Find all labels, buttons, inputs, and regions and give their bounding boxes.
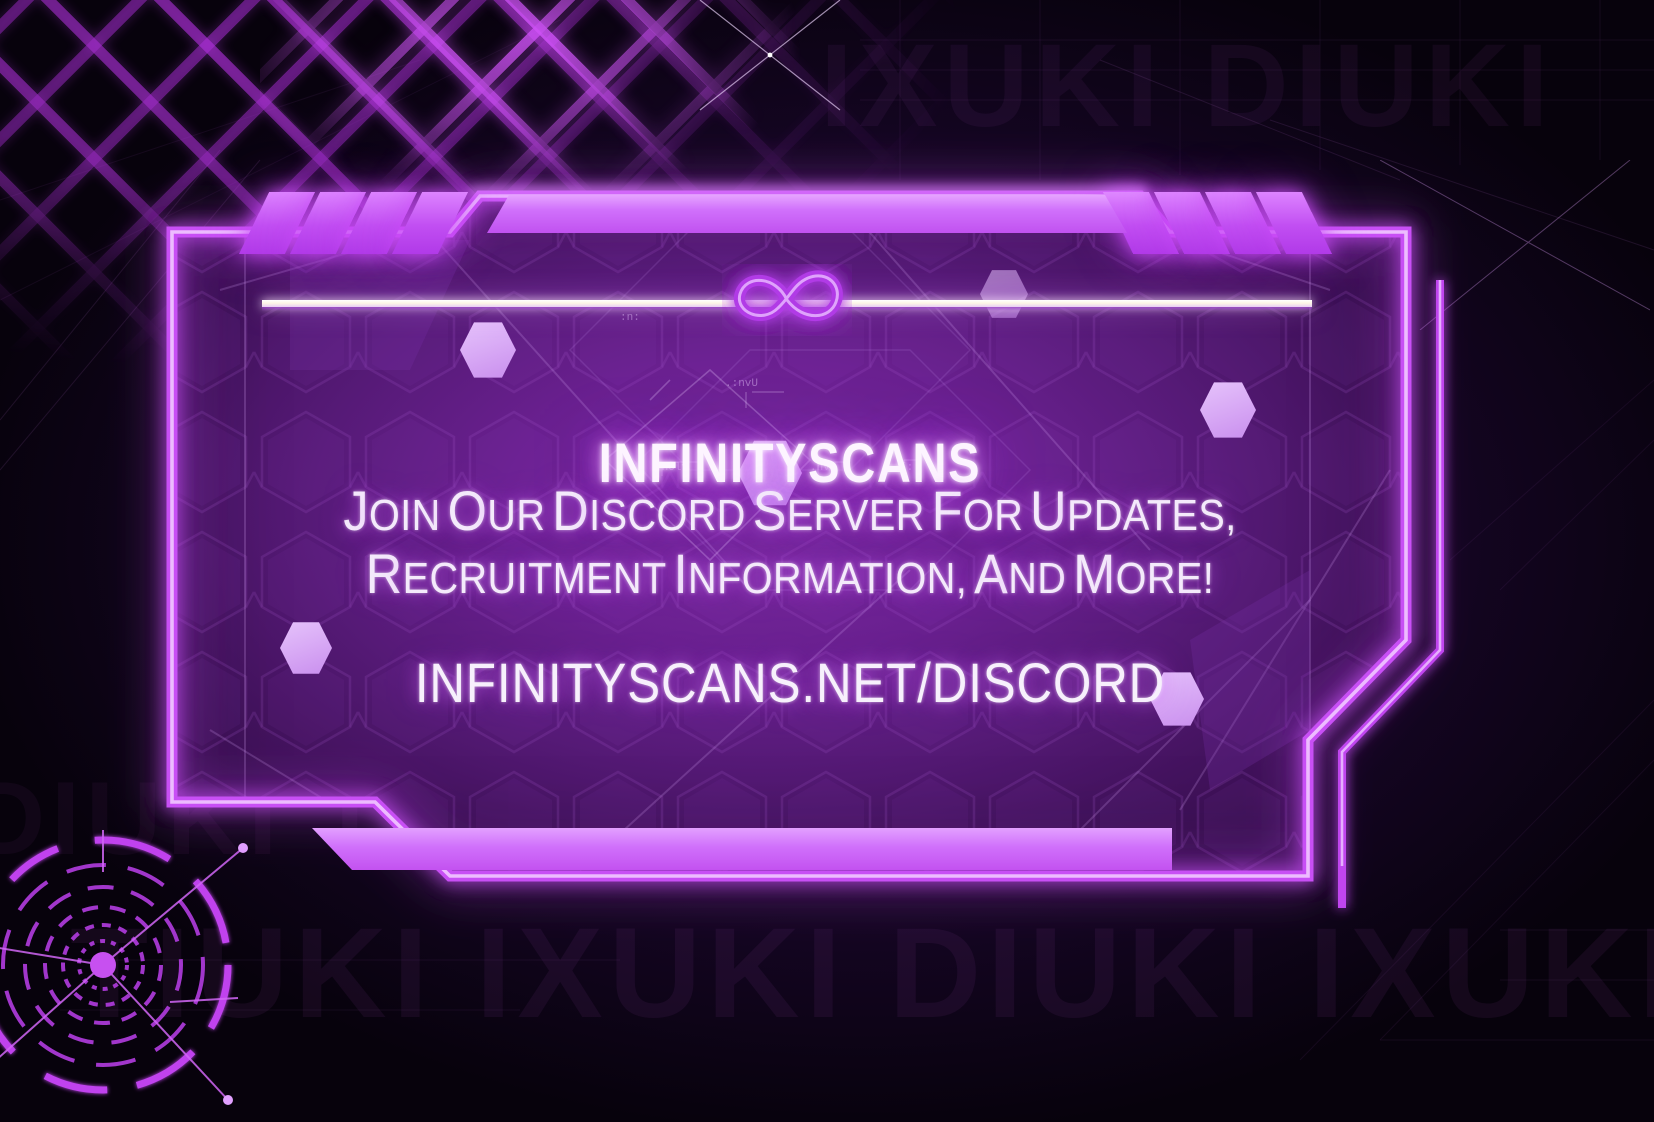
panel-top-bar <box>487 195 1127 233</box>
hazard-stripes-right <box>1118 192 1328 254</box>
panel-bottom-bar <box>312 828 1172 870</box>
top-bar-glow <box>470 182 1146 196</box>
banner-image: IXUKI DIUKI DIUKI TIUK TIUKI IXUKI DIUKI… <box>0 0 1654 1122</box>
infinity-icon <box>722 264 852 336</box>
hazard-stripes-left <box>254 192 464 254</box>
